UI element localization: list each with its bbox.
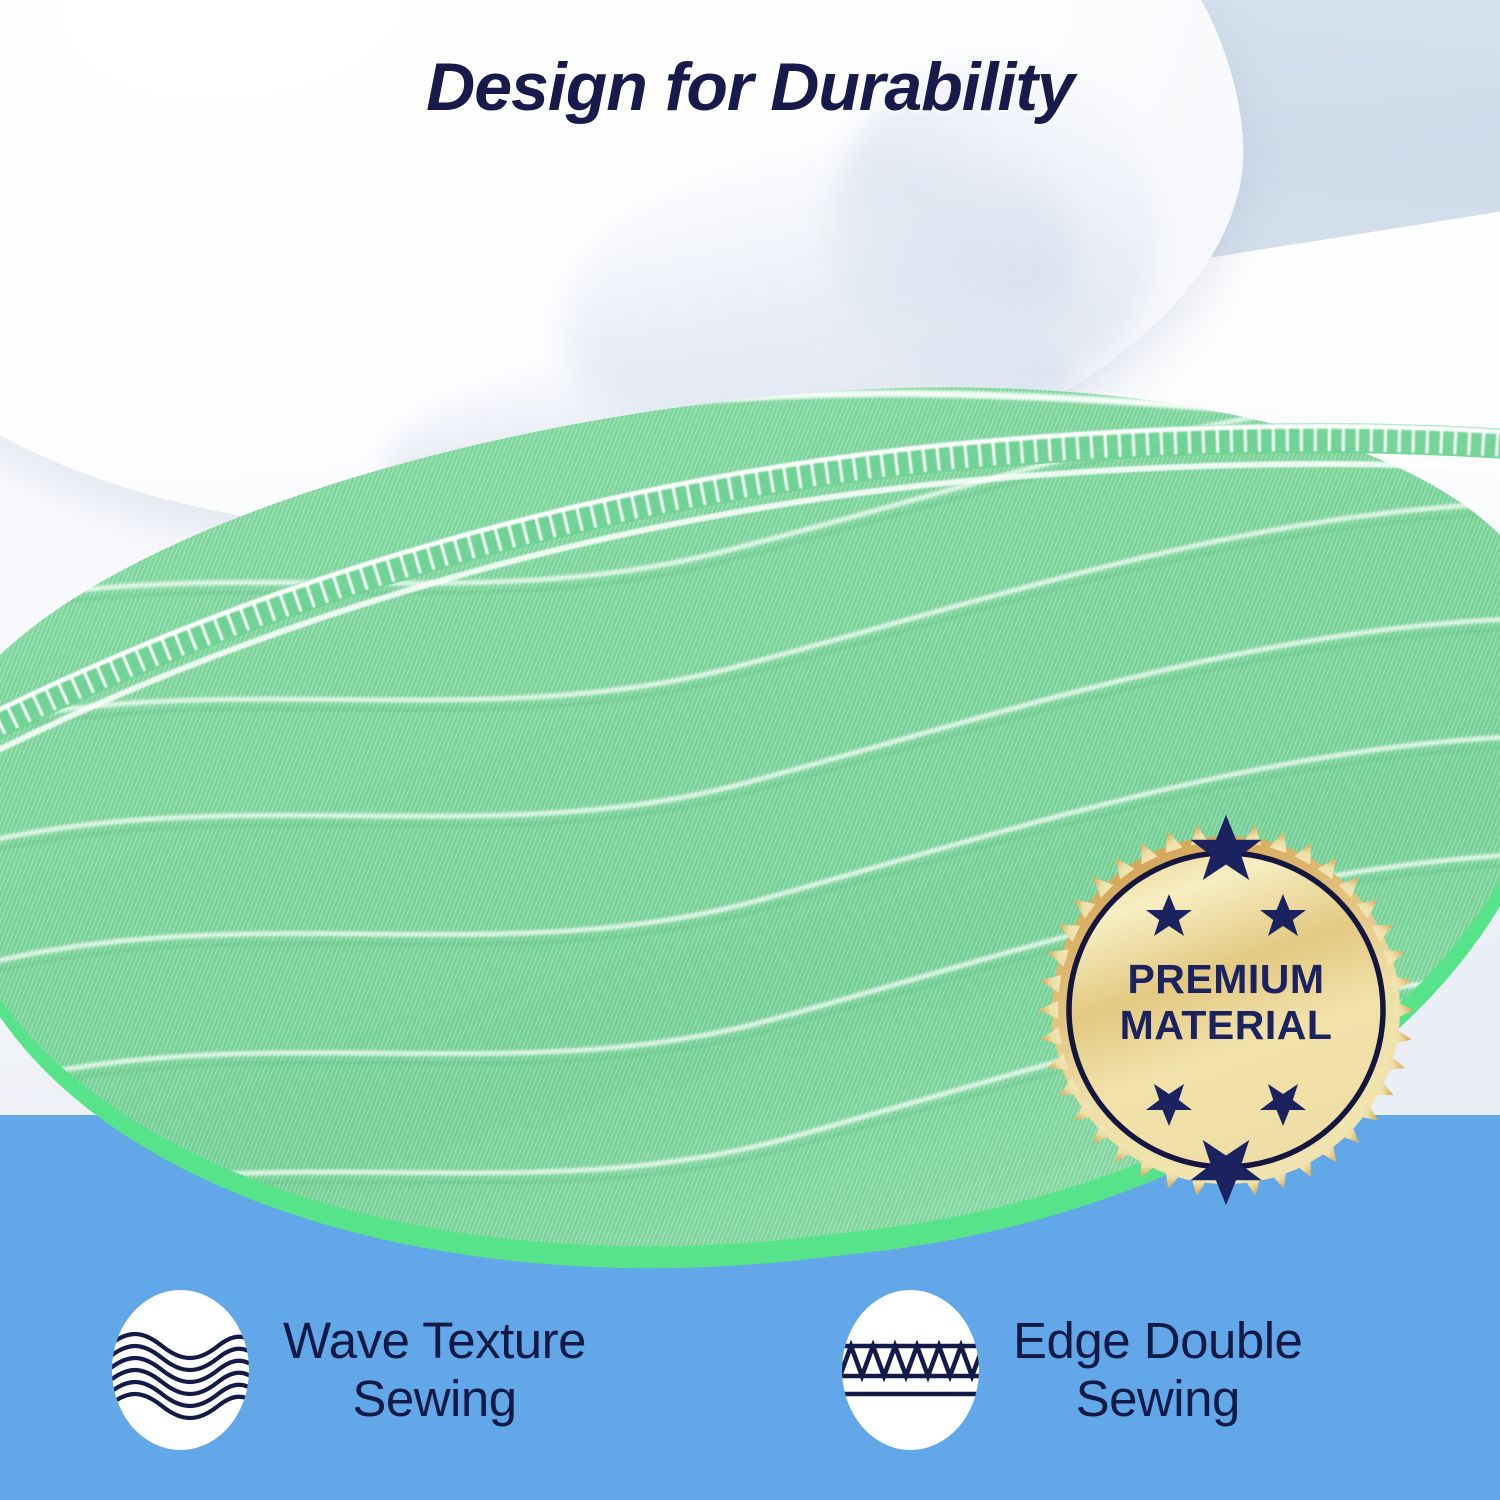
badge-text: PREMIUM MATERIAL xyxy=(1048,956,1404,1049)
premium-material-badge: PREMIUM MATERIAL xyxy=(1048,818,1404,1202)
feature-row: Wave Texture Sewing Edge Double Sewing xyxy=(0,1255,1500,1485)
feature-wave-texture-sewing: Wave Texture Sewing xyxy=(0,1255,770,1485)
zigzag-edge-stitch-icon xyxy=(842,1290,979,1450)
badge-line-2: MATERIAL xyxy=(1048,1002,1404,1048)
feature-label: Wave Texture Sewing xyxy=(283,1312,586,1427)
page-title: Design for Durability xyxy=(0,48,1500,126)
feature-edge-double-sewing: Edge Double Sewing xyxy=(770,1255,1500,1485)
badge-line-1: PREMIUM xyxy=(1048,956,1404,1002)
product-infographic: Design for Durability xyxy=(0,0,1500,1500)
feature-label: Edge Double Sewing xyxy=(1013,1312,1302,1427)
wave-stitch-icon xyxy=(112,1290,249,1450)
